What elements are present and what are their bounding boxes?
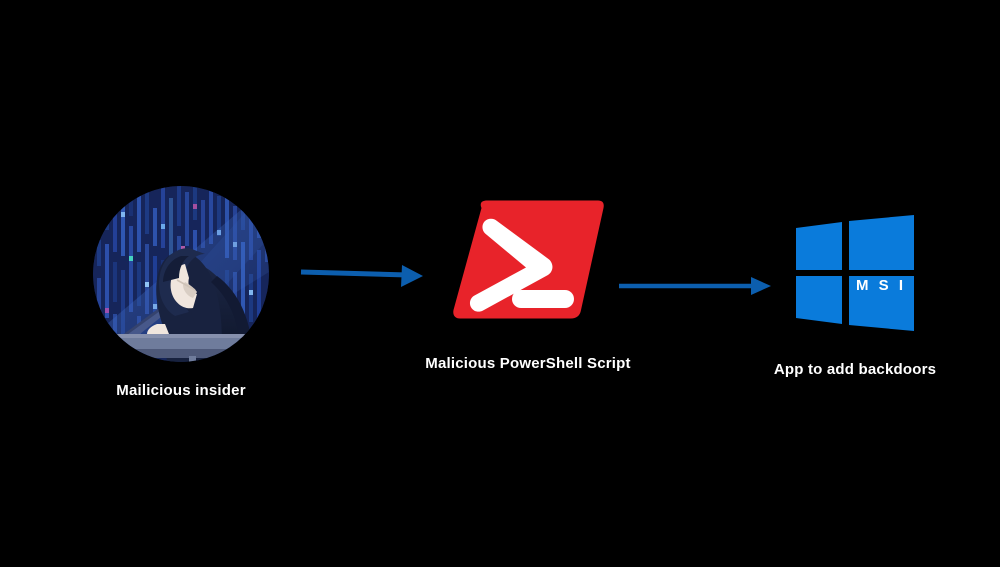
- msi-badge-text: M S I: [848, 277, 914, 294]
- node-app-to-add-backdoors[interactable]: M S I App to add backdoors: [790, 215, 920, 335]
- windows-logo-icon: [790, 215, 920, 335]
- diagram-canvas: Mailicious insider Malicious PowerShell …: [0, 0, 1000, 567]
- node-malicious-insider[interactable]: Mailicious insider: [93, 186, 269, 362]
- arrow-powershell-to-msi: [618, 272, 773, 300]
- arrow-insider-to-powershell: [300, 258, 425, 288]
- node-malicious-powershell-script[interactable]: Malicious PowerShell Script: [450, 200, 605, 325]
- node-label-malicious-insider: Mailicious insider: [21, 382, 341, 399]
- powershell-logo-icon: [450, 200, 605, 325]
- hooded-hacker-at-laptop-circle-icon: [93, 186, 269, 362]
- node-label-malicious-powershell-script: Malicious PowerShell Script: [368, 355, 688, 372]
- node-label-app-to-add-backdoors: App to add backdoors: [695, 361, 1000, 378]
